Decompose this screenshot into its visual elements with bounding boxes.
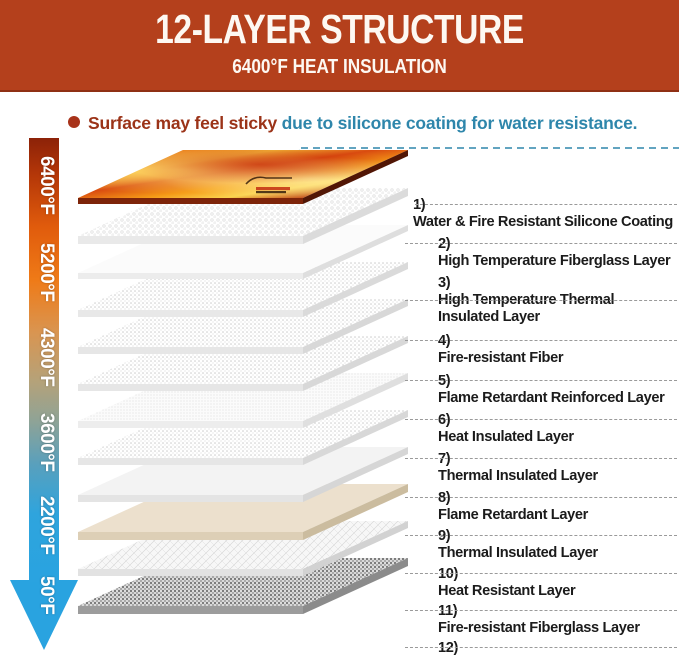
header-banner: 12-LAYER STRUCTURE 6400°F HEAT INSULATIO…	[0, 0, 679, 92]
page-title: 12-LAYER STRUCTURE	[61, 8, 618, 51]
surface-note: Surface may feel sticky due to silicone …	[68, 113, 674, 137]
temperature-scale-arrow: 6400°F 5200°F 4300°F 3600°F 2200°F 50°F	[6, 138, 82, 656]
layer-label-12: 12) Aluminum Foil Layer	[438, 623, 576, 658]
label-divider	[405, 419, 677, 420]
label-divider	[405, 610, 677, 611]
label-divider	[405, 340, 677, 341]
layer-slabs	[78, 150, 408, 650]
layer-label-column: 1) Water & Fire Resistant Silicone Coati…	[405, 180, 679, 635]
note-text-primary: Surface may feel sticky	[88, 113, 282, 133]
note-text-secondary: due to silicone coating for water resist…	[282, 113, 638, 133]
layer-number: 7)	[438, 451, 450, 467]
layer-number: 12)	[438, 640, 458, 656]
bullet-dot-icon	[68, 116, 80, 128]
layer-number: 9)	[438, 528, 450, 544]
layer-stack-diagram	[78, 150, 408, 650]
infographic-page: 12-LAYER STRUCTURE 6400°F HEAT INSULATIO…	[0, 0, 679, 658]
label-divider	[405, 300, 677, 301]
label-divider	[405, 573, 677, 574]
label-divider	[405, 243, 677, 244]
layer-number: 1)	[413, 197, 425, 213]
layer-number: 2)	[438, 236, 450, 252]
temp-label: 50°F	[35, 576, 57, 658]
page-subtitle: 6400°F HEAT INSULATION	[48, 56, 632, 79]
layer-number: 11)	[438, 603, 457, 619]
label-divider	[405, 535, 677, 536]
label-divider	[405, 647, 677, 648]
label-divider	[405, 380, 677, 381]
label-divider	[405, 458, 677, 459]
layer-number: 3)	[438, 275, 450, 291]
label-divider	[415, 204, 677, 205]
layer-number: 5)	[438, 373, 450, 389]
layer-number: 10)	[438, 566, 458, 582]
label-divider	[405, 497, 677, 498]
layer-number: 8)	[438, 490, 450, 506]
layer-number: 6)	[438, 412, 450, 428]
layer-number: 4)	[438, 333, 450, 349]
